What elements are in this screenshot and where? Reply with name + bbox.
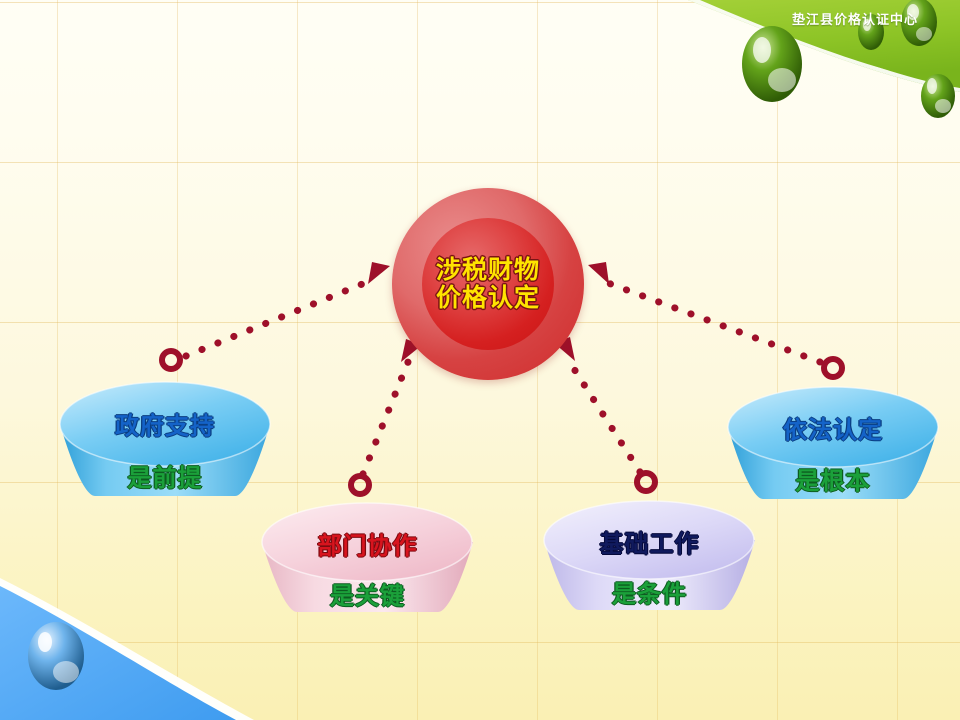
hub-title-line2: 价格认定 [436,284,540,312]
center-hub-inner: 涉税财物 价格认定 [422,218,554,350]
node-title: 基础工作 [537,524,762,559]
node-subtitle: 是条件 [537,574,762,609]
node-subtitle: 是关键 [255,576,480,611]
node-title: 依法认定 [722,410,944,445]
arrowhead [588,262,609,284]
slide-canvas: 垫江县价格认证中心 [0,0,960,720]
node-lawful-determination[interactable]: 依法认定 是根本 [722,383,944,508]
connector-start-marker [824,359,842,377]
connector-lawful-determination [600,280,820,362]
connector-start-marker [351,476,369,494]
hub-title-line1: 涉税财物 [436,256,540,284]
node-government-support[interactable]: 政府支持 是前提 [55,378,275,503]
node-foundation-work[interactable]: 基础工作 是条件 [537,498,762,618]
connector-government-support [186,280,372,356]
node-department-cooperation[interactable]: 部门协作 是关键 [255,500,480,620]
connector-start-marker [162,351,180,369]
node-subtitle: 是前提 [55,458,275,493]
node-subtitle: 是根本 [722,461,944,496]
connector-foundation-work [567,358,640,472]
arrowhead [368,262,390,284]
node-title: 政府支持 [55,406,275,441]
connector-start-marker [637,473,655,491]
center-hub[interactable]: 涉税财物 价格认定 [392,188,584,380]
connector-department-cooperation [363,362,408,474]
node-title: 部门协作 [255,526,480,561]
